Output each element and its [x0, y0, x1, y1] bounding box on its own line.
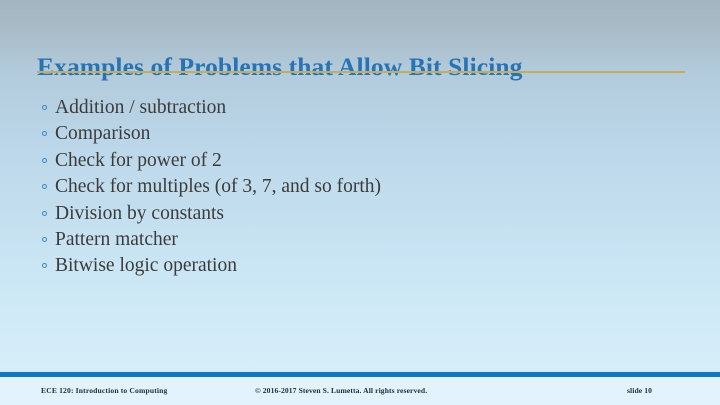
title-underline-rule	[37, 71, 685, 73]
list-item-label: Addition / subtraction	[55, 95, 682, 121]
hollow-circle-bullet-icon	[42, 258, 55, 270]
list-item: Check for multiples (of 3, 7, and so for…	[42, 174, 682, 200]
list-item-label: Bitwise logic operation	[55, 253, 682, 279]
footer-slide-number: slide 10	[627, 386, 652, 395]
hollow-circle-bullet-icon	[42, 126, 55, 138]
list-item: Check for power of 2	[42, 148, 682, 174]
footer-divider-rule	[0, 372, 720, 377]
presentation-slide: Examples of Problems that Allow Bit Slic…	[0, 0, 720, 405]
slide-title: Examples of Problems that Allow Bit Slic…	[37, 50, 687, 84]
list-item: Comparison	[42, 121, 682, 147]
list-item: Bitwise logic operation	[42, 253, 682, 279]
list-item: Pattern matcher	[42, 227, 682, 253]
hollow-circle-bullet-icon	[42, 179, 55, 191]
hollow-circle-bullet-icon	[42, 100, 55, 112]
list-item: Division by constants	[42, 201, 682, 227]
footer-course-label: ECE 120: Introduction to Computing	[41, 386, 167, 395]
list-item-label: Division by constants	[55, 201, 682, 227]
hollow-circle-bullet-icon	[42, 153, 55, 165]
footer-copyright-label: © 2016-2017 Steven S. Lumetta. All right…	[255, 386, 427, 395]
list-item-label: Pattern matcher	[55, 227, 682, 253]
list-item: Addition / subtraction	[42, 95, 682, 121]
hollow-circle-bullet-icon	[42, 232, 55, 244]
list-item-label: Comparison	[55, 121, 682, 147]
list-item-label: Check for multiples (of 3, 7, and so for…	[55, 174, 682, 200]
hollow-circle-bullet-icon	[42, 206, 55, 218]
list-item-label: Check for power of 2	[55, 148, 682, 174]
bullet-list: Addition / subtraction Comparison Check …	[42, 95, 682, 280]
